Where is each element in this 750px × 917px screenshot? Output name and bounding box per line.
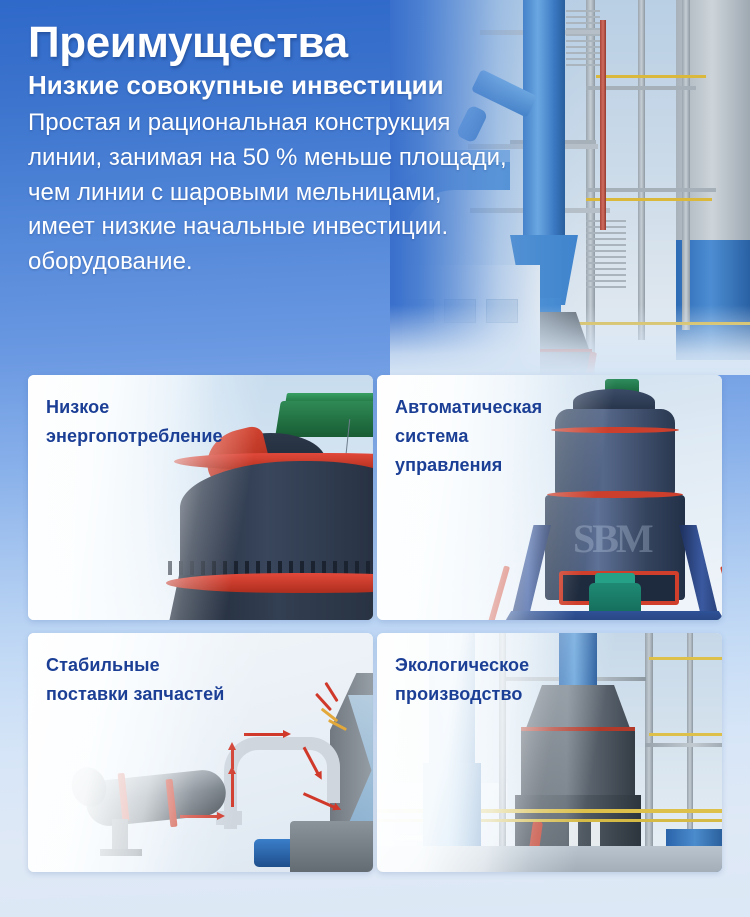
- page-subtitle: Низкие совокупные инвестиции: [28, 70, 528, 102]
- card-label-spare-parts: Стабильные поставки запчастей: [46, 651, 226, 709]
- photo-bottom-fade: [390, 305, 750, 375]
- card-label-eco-production: Экологическое производство: [395, 651, 575, 709]
- page-title: Преимущества: [28, 18, 528, 67]
- headline-block: Преимущества Низкие совокупные инвестици…: [28, 18, 528, 280]
- advantage-card-automatic-control[interactable]: SBM Автоматическая система управления: [377, 375, 722, 620]
- advantage-card-spare-parts[interactable]: Стабильные поставки запчастей: [28, 633, 373, 872]
- card-label-automatic-control: Автоматическая система управления: [395, 393, 575, 480]
- card-label-low-energy: Низкое энергопотребление: [46, 393, 226, 451]
- page-body-text: Простая и рациональная конструкция линии…: [28, 106, 508, 280]
- advantage-card-eco-production[interactable]: Экологическое производство: [377, 633, 722, 872]
- advantage-card-low-energy[interactable]: Низкое энергопотребление: [28, 375, 373, 620]
- advantages-infographic-page: Преимущества Низкие совокупные инвестици…: [0, 0, 750, 917]
- advantage-card-grid: Низкое энергопотребление SBM: [28, 375, 722, 872]
